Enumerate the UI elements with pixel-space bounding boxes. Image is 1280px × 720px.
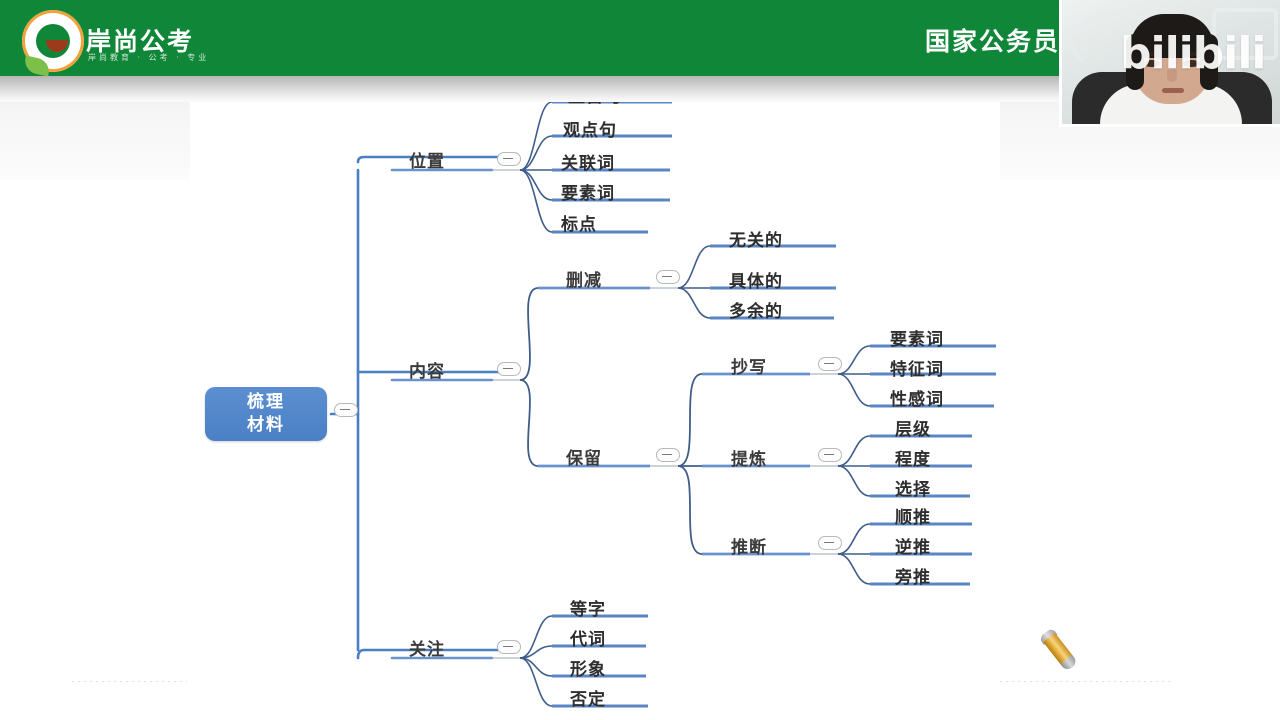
node-chaoxie[interactable]: 抄写: [731, 353, 767, 378]
mindmap-root-node[interactable]: 梳理 材料: [205, 387, 327, 441]
node-biaodian[interactable]: 标点: [561, 210, 597, 235]
video-player-frame: 岸尚公考 岸尚教育 · 公考 · 专业 国家公务员官方网课 bilibili: [0, 0, 1280, 720]
node-xingganci[interactable]: 性感词: [890, 385, 944, 410]
brand-logo: 岸尚公考 岸尚教育 · 公考 · 专业: [22, 6, 172, 74]
node-guanlianci[interactable]: 关联词: [561, 149, 615, 174]
node-neirong[interactable]: 内容: [409, 357, 445, 382]
node-shuntui[interactable]: 顺推: [895, 503, 931, 528]
node-baoliu[interactable]: 保留: [566, 444, 602, 469]
toggle-tilian[interactable]: [818, 448, 842, 462]
root-label-line2: 材料: [247, 414, 285, 437]
node-chengdu[interactable]: 程度: [895, 445, 931, 470]
toggle-root[interactable]: [334, 403, 358, 417]
node-daici[interactable]: 代词: [570, 625, 606, 650]
node-yaosuci-2[interactable]: 要素词: [890, 325, 944, 350]
node-pangtui[interactable]: 旁推: [895, 563, 931, 588]
node-dengzi[interactable]: 等字: [570, 595, 606, 620]
bilibili-watermark: bilibili: [1120, 28, 1265, 79]
node-fouding[interactable]: 否定: [570, 685, 606, 710]
root-label-line1: 梳理: [247, 391, 285, 414]
toggle-guanzhu[interactable]: [497, 640, 521, 654]
node-yaosuci-1[interactable]: 要素词: [561, 179, 615, 204]
node-shanjian[interactable]: 删减: [566, 266, 602, 291]
node-nitui[interactable]: 逆推: [895, 533, 931, 558]
node-tezhengci[interactable]: 特征词: [890, 355, 944, 380]
node-duoyude[interactable]: 多余的: [729, 297, 783, 322]
node-xuanze[interactable]: 选择: [895, 475, 931, 500]
toggle-weizhi[interactable]: [497, 152, 521, 166]
node-tuiduan[interactable]: 推断: [731, 533, 767, 558]
node-weizhi[interactable]: 位置: [409, 147, 445, 172]
toggle-tuiduan[interactable]: [818, 536, 842, 550]
node-guandianju[interactable]: 观点句: [563, 116, 617, 141]
webcam-person-mouth: [1162, 88, 1184, 93]
toggle-shanjian[interactable]: [656, 270, 680, 284]
node-tilian[interactable]: 提炼: [731, 445, 767, 470]
brand-subtitle: 岸尚教育 · 公考 · 专业: [88, 52, 209, 63]
node-xingxiang[interactable]: 形象: [570, 655, 606, 680]
toggle-baoliu[interactable]: [656, 448, 680, 462]
node-jutide[interactable]: 具体的: [729, 267, 783, 292]
node-guanzhu[interactable]: 关注: [409, 635, 445, 660]
toggle-neirong[interactable]: [497, 362, 521, 376]
node-wuguande[interactable]: 无关的: [729, 226, 783, 251]
node-cengji[interactable]: 层级: [895, 415, 931, 440]
presenter-webcam[interactable]: bilibili: [1059, 0, 1280, 127]
toggle-chaoxie[interactable]: [818, 357, 842, 371]
